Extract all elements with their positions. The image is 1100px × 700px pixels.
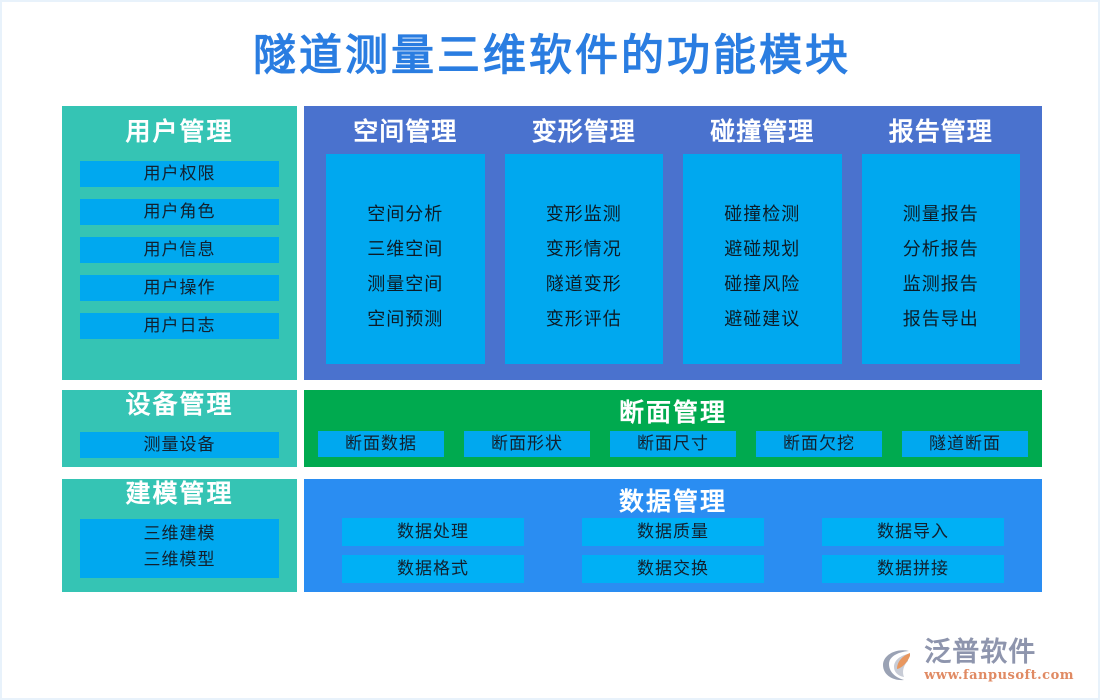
deformation-status-item[interactable]: 变形情况 <box>505 232 664 267</box>
core-modules-grid: 空间管理 空间分析 三维空间 测量空间 空间预测 变形管理 变形监测 变形情况 … <box>326 114 1020 364</box>
panel-user-management[interactable]: 用户管理 用户权限 用户角色 用户信息 用户操作 用户日志 <box>62 106 297 380</box>
module-collision-management[interactable]: 碰撞管理 碰撞检测 避碰规划 碰撞风险 避碰建议 <box>683 114 842 364</box>
deformation-management-title: 变形管理 <box>505 114 664 150</box>
report-management-box: 测量报告 分析报告 监测报告 报告导出 <box>862 154 1021 364</box>
collision-avoidance-planning-item[interactable]: 避碰规划 <box>683 232 842 267</box>
data-import-chip[interactable]: 数据导入 <box>822 518 1004 546</box>
data-processing-chip[interactable]: 数据处理 <box>342 518 524 546</box>
measurement-report-item[interactable]: 测量报告 <box>862 197 1021 232</box>
collision-management-title: 碰撞管理 <box>683 114 842 150</box>
data-management-grid: 数据处理 数据质量 数据导入 数据格式 数据交换 数据拼接 <box>342 518 1004 583</box>
tunnel-section-chip[interactable]: 隧道断面 <box>902 431 1028 457</box>
user-permission-chip[interactable]: 用户权限 <box>80 161 279 187</box>
panel-data-management: 数据管理 数据处理 数据质量 数据导入 数据格式 数据交换 数据拼接 <box>304 479 1042 592</box>
collision-detection-item[interactable]: 碰撞检测 <box>683 197 842 232</box>
report-export-item[interactable]: 报告导出 <box>862 302 1021 337</box>
data-management-heading: 数据管理 <box>304 479 1042 517</box>
row-device-and-section: 设备管理 测量设备 断面管理 断面数据 断面形状 断面尺寸 断面欠挖 隧道断面 <box>62 390 1042 467</box>
user-management-list: 用户权限 用户角色 用户信息 用户操作 用户日志 <box>80 161 279 339</box>
section-underbreak-chip[interactable]: 断面欠挖 <box>756 431 882 457</box>
tunnel-deformation-item[interactable]: 隧道变形 <box>505 267 664 302</box>
monitoring-report-item[interactable]: 监测报告 <box>862 267 1021 302</box>
panel-core-modules: 空间管理 空间分析 三维空间 测量空间 空间预测 变形管理 变形监测 变形情况 … <box>304 106 1042 380</box>
fanpu-c-swoosh-logo-icon <box>878 644 918 684</box>
measuring-device-chip[interactable]: 测量设备 <box>80 432 279 458</box>
modeling-management-list: 三维建模 三维模型 <box>80 519 279 578</box>
three-d-model-item[interactable]: 三维模型 <box>80 547 279 573</box>
deformation-monitoring-item[interactable]: 变形监测 <box>505 197 664 232</box>
user-log-chip[interactable]: 用户日志 <box>80 313 279 339</box>
module-report-management[interactable]: 报告管理 测量报告 分析报告 监测报告 报告导出 <box>862 114 1021 364</box>
module-space-management[interactable]: 空间管理 空间分析 三维空间 测量空间 空间预测 <box>326 114 485 364</box>
data-exchange-chip[interactable]: 数据交换 <box>582 555 764 583</box>
collision-avoidance-advice-item[interactable]: 避碰建议 <box>683 302 842 337</box>
section-size-chip[interactable]: 断面尺寸 <box>610 431 736 457</box>
analysis-report-item[interactable]: 分析报告 <box>862 232 1021 267</box>
page-title: 隧道测量三维软件的功能模块 <box>2 28 1100 84</box>
data-format-chip[interactable]: 数据格式 <box>342 555 524 583</box>
collision-risk-item[interactable]: 碰撞风险 <box>683 267 842 302</box>
device-management-list: 测量设备 <box>80 432 279 458</box>
row-modules-top: 用户管理 用户权限 用户角色 用户信息 用户操作 用户日志 空间管理 空间分析 … <box>62 106 1042 380</box>
brand-logo: 泛普软件 www.fanpusoft.com <box>878 638 1074 684</box>
user-management-heading: 用户管理 <box>62 106 297 147</box>
panel-modeling-management[interactable]: 建模管理 三维建模 三维模型 <box>62 479 297 592</box>
measure-space-item[interactable]: 测量空间 <box>326 267 485 302</box>
section-data-chip[interactable]: 断面数据 <box>318 431 444 457</box>
logo-url-text: www.fanpusoft.com <box>924 668 1074 684</box>
space-analysis-item[interactable]: 空间分析 <box>326 197 485 232</box>
logo-brand-text: 泛普软件 <box>924 638 1036 668</box>
report-management-title: 报告管理 <box>862 114 1021 150</box>
collision-management-box: 碰撞检测 避碰规划 碰撞风险 避碰建议 <box>683 154 842 364</box>
user-info-chip[interactable]: 用户信息 <box>80 237 279 263</box>
user-role-chip[interactable]: 用户角色 <box>80 199 279 225</box>
data-splicing-chip[interactable]: 数据拼接 <box>822 555 1004 583</box>
three-d-space-item[interactable]: 三维空间 <box>326 232 485 267</box>
deformation-assessment-item[interactable]: 变形评估 <box>505 302 664 337</box>
space-management-box: 空间分析 三维空间 测量空间 空间预测 <box>326 154 485 364</box>
row-modeling-and-data: 建模管理 三维建模 三维模型 数据管理 数据处理 数据质量 数据导入 数据格式 … <box>62 479 1042 592</box>
modeling-management-heading: 建模管理 <box>62 479 297 509</box>
section-management-heading: 断面管理 <box>304 390 1042 428</box>
panel-device-management[interactable]: 设备管理 测量设备 <box>62 390 297 467</box>
device-management-heading: 设备管理 <box>62 390 297 420</box>
space-prediction-item[interactable]: 空间预测 <box>326 302 485 337</box>
deformation-management-box: 变形监测 变形情况 隧道变形 变形评估 <box>505 154 664 364</box>
module-deformation-management[interactable]: 变形管理 变形监测 变形情况 隧道变形 变形评估 <box>505 114 664 364</box>
three-d-modeling-item[interactable]: 三维建模 <box>80 521 279 547</box>
user-operation-chip[interactable]: 用户操作 <box>80 275 279 301</box>
poster-root: 隧道测量三维软件的功能模块 用户管理 用户权限 用户角色 用户信息 用户操作 用… <box>0 0 1100 700</box>
section-shape-chip[interactable]: 断面形状 <box>464 431 590 457</box>
data-quality-chip[interactable]: 数据质量 <box>582 518 764 546</box>
logo-text-block: 泛普软件 www.fanpusoft.com <box>924 638 1074 684</box>
section-management-chips: 断面数据 断面形状 断面尺寸 断面欠挖 隧道断面 <box>318 431 1028 457</box>
panel-section-management: 断面管理 断面数据 断面形状 断面尺寸 断面欠挖 隧道断面 <box>304 390 1042 467</box>
space-management-title: 空间管理 <box>326 114 485 150</box>
